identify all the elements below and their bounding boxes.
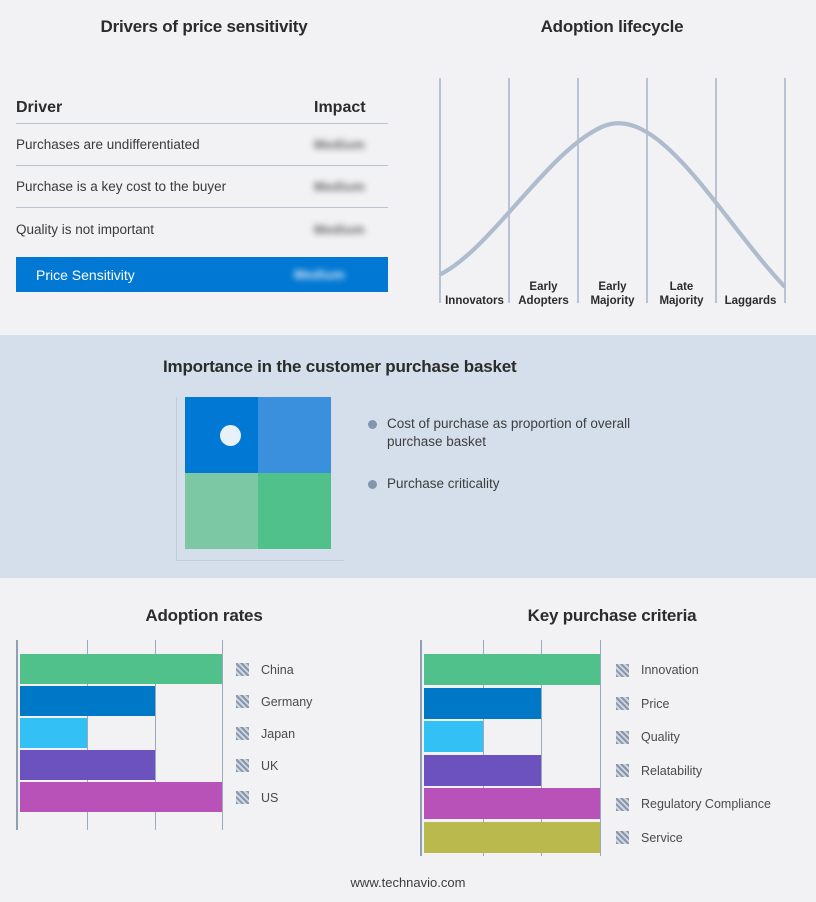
legend-item: Price bbox=[616, 697, 669, 711]
gridline bbox=[600, 640, 601, 856]
legend-item: Cost of purchase as proportion of overal… bbox=[368, 415, 668, 451]
legend-item: China bbox=[236, 663, 294, 677]
quadrant-bottom-right bbox=[258, 473, 331, 549]
gridline bbox=[222, 640, 223, 830]
legend-label: US bbox=[261, 791, 278, 805]
impact-value: Medium bbox=[314, 222, 388, 237]
adoption-lifecycle-title: Adoption lifecycle bbox=[408, 17, 816, 37]
bar-japan bbox=[20, 718, 87, 748]
key-purchase-criteria-chart: InnovationPriceQualityRelatabilityRegula… bbox=[420, 640, 812, 856]
legend-item: Regulatory Compliance bbox=[616, 797, 771, 811]
legend-bullet-icon bbox=[368, 480, 377, 489]
importance-legend: Cost of purchase as proportion of overal… bbox=[368, 415, 668, 517]
adoption-lifecycle-panel: Adoption lifecycle Innovators Early Adop… bbox=[408, 0, 816, 335]
table-row: Purchase is a key cost to the buyer Medi… bbox=[16, 166, 388, 208]
hatched-swatch-icon bbox=[236, 663, 249, 676]
adoption-plot-area bbox=[16, 640, 222, 830]
bar-regulatory-compliance bbox=[424, 788, 600, 819]
legend-label: Japan bbox=[261, 727, 295, 741]
criteria-plot-area bbox=[420, 640, 600, 856]
adoption-rates-chart: ChinaGermanyJapanUKUS bbox=[16, 640, 392, 830]
adoption-lifecycle-chart: Innovators Early Adopters Early Majority… bbox=[432, 78, 792, 310]
quadrant-bottom-left bbox=[185, 473, 258, 549]
adoption-rates-title: Adoption rates bbox=[0, 606, 408, 626]
hatched-swatch-icon bbox=[616, 731, 629, 744]
driver-label: Price Sensitivity bbox=[36, 267, 135, 283]
quadrant-top-left bbox=[185, 397, 258, 473]
legend-item: Germany bbox=[236, 695, 312, 709]
hatched-swatch-icon bbox=[616, 764, 629, 777]
hatched-swatch-icon bbox=[616, 798, 629, 811]
column-header-impact: Impact bbox=[314, 99, 388, 117]
drivers-title: Drivers of price sensitivity bbox=[0, 17, 408, 37]
price-sensitivity-highlight-row: Price Sensitivity Medium bbox=[16, 257, 388, 292]
quadrant-grid bbox=[185, 397, 331, 549]
bar-price bbox=[424, 688, 541, 719]
importance-title: Importance in the customer purchase bask… bbox=[163, 357, 583, 377]
matrix-y-axis bbox=[176, 397, 177, 561]
legend-item: Quality bbox=[616, 730, 680, 744]
stage-label-early-adopters: Early Adopters bbox=[509, 281, 578, 308]
drivers-panel: Drivers of price sensitivity Driver Impa… bbox=[0, 0, 408, 335]
legend-item: Relatability bbox=[616, 764, 702, 778]
legend-item: Innovation bbox=[616, 663, 699, 677]
table-row: Purchases are undifferentiated Medium bbox=[16, 124, 388, 166]
hatched-swatch-icon bbox=[236, 791, 249, 804]
table-row: Quality is not important Medium bbox=[16, 208, 388, 250]
drivers-table: Driver Impact Purchases are undifferenti… bbox=[16, 92, 388, 292]
driver-label: Purchase is a key cost to the buyer bbox=[16, 179, 226, 194]
legend-label: Relatability bbox=[641, 764, 702, 778]
legend-label: Regulatory Compliance bbox=[641, 797, 771, 811]
adoption-legend: ChinaGermanyJapanUKUS bbox=[236, 640, 392, 830]
impact-value: Medium bbox=[314, 179, 388, 194]
hatched-swatch-icon bbox=[616, 831, 629, 844]
impact-value: Medium bbox=[314, 137, 388, 152]
matrix-x-axis bbox=[176, 560, 344, 561]
bar-uk bbox=[20, 750, 155, 780]
legend-label: China bbox=[261, 663, 294, 677]
legend-item: UK bbox=[236, 759, 278, 773]
position-marker-dot bbox=[220, 425, 241, 446]
y-axis bbox=[16, 640, 18, 830]
quadrant-matrix bbox=[176, 397, 344, 561]
legend-item: US bbox=[236, 791, 278, 805]
stage-label-late-majority: Late Majority bbox=[647, 281, 716, 308]
stage-label-early-majority: Early Majority bbox=[578, 281, 647, 308]
legend-item: Service bbox=[616, 831, 683, 845]
stage-labels: Innovators Early Adopters Early Majority… bbox=[432, 78, 792, 310]
legend-label: Innovation bbox=[641, 663, 699, 677]
hatched-swatch-icon bbox=[236, 759, 249, 772]
stage-label-laggards: Laggards bbox=[716, 295, 785, 309]
bar-relatability bbox=[424, 755, 541, 786]
legend-label: Purchase criticality bbox=[387, 475, 500, 493]
table-header-row: Driver Impact bbox=[16, 92, 388, 124]
legend-label: Germany bbox=[261, 695, 312, 709]
bar-innovation bbox=[424, 654, 600, 685]
hatched-swatch-icon bbox=[616, 697, 629, 710]
key-purchase-criteria-panel: Key purchase criteria InnovationPriceQua… bbox=[408, 578, 816, 902]
legend-label: Service bbox=[641, 831, 683, 845]
hatched-swatch-icon bbox=[236, 695, 249, 708]
criteria-legend: InnovationPriceQualityRelatabilityRegula… bbox=[616, 640, 812, 856]
key-purchase-criteria-title: Key purchase criteria bbox=[408, 606, 816, 626]
column-header-driver: Driver bbox=[16, 99, 62, 117]
legend-item: Purchase criticality bbox=[368, 475, 668, 493]
footer-url: www.technavio.com bbox=[0, 875, 816, 890]
adoption-rates-panel: Adoption rates ChinaGermanyJapanUKUS bbox=[0, 578, 408, 902]
hatched-swatch-icon bbox=[616, 664, 629, 677]
legend-label: UK bbox=[261, 759, 278, 773]
legend-label: Quality bbox=[641, 730, 680, 744]
hatched-swatch-icon bbox=[236, 727, 249, 740]
bar-us bbox=[20, 782, 222, 812]
bar-service bbox=[424, 822, 600, 853]
bar-china bbox=[20, 654, 222, 684]
driver-label: Quality is not important bbox=[16, 222, 154, 237]
quadrant-top-right bbox=[258, 397, 331, 473]
bar-germany bbox=[20, 686, 155, 716]
y-axis bbox=[420, 640, 422, 856]
driver-label: Purchases are undifferentiated bbox=[16, 137, 200, 152]
bar-quality bbox=[424, 721, 483, 752]
importance-panel: Importance in the customer purchase bask… bbox=[0, 335, 816, 578]
legend-label: Cost of purchase as proportion of overal… bbox=[387, 415, 639, 451]
legend-item: Japan bbox=[236, 727, 295, 741]
legend-bullet-icon bbox=[368, 420, 377, 429]
stage-label-innovators: Innovators bbox=[440, 295, 509, 309]
legend-label: Price bbox=[641, 697, 669, 711]
impact-value: Medium bbox=[294, 267, 368, 282]
